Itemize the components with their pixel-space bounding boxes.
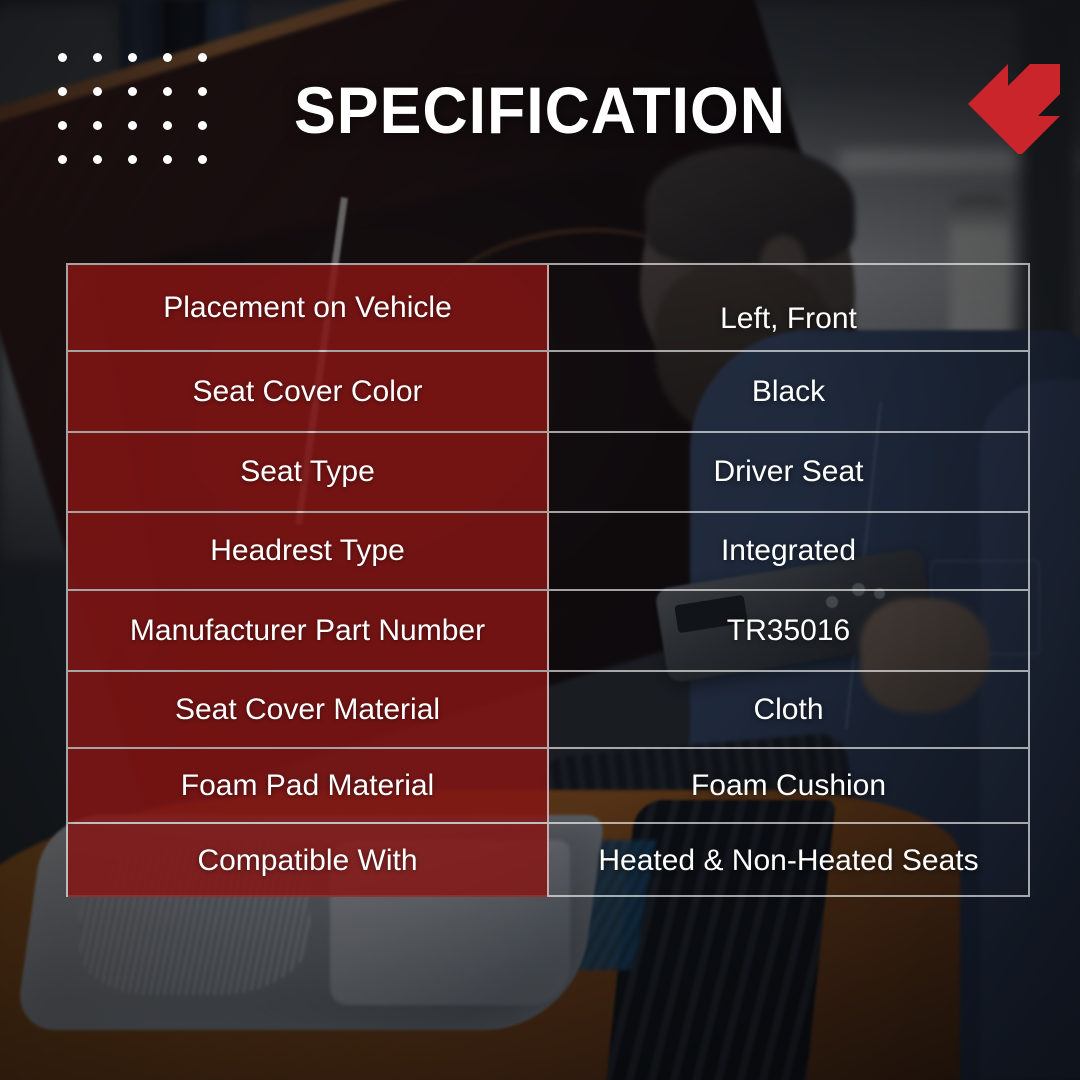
spec-label: Manufacturer Part Number bbox=[68, 591, 549, 670]
table-row: Headrest Type Integrated bbox=[68, 513, 1028, 591]
table-row: Foam Pad Material Foam Cushion bbox=[68, 749, 1028, 824]
spec-value: Driver Seat bbox=[549, 433, 1028, 511]
spec-label: Seat Type bbox=[68, 433, 549, 511]
table-row: Placement on Vehicle Left, Front bbox=[68, 265, 1028, 352]
spec-label: Headrest Type bbox=[68, 513, 549, 589]
table-row: Seat Type Driver Seat bbox=[68, 433, 1028, 513]
spec-value: Integrated bbox=[549, 513, 1028, 589]
table-row: Seat Cover Material Cloth bbox=[68, 672, 1028, 749]
spec-value: TR35016 bbox=[549, 591, 1028, 670]
table-row: Manufacturer Part Number TR35016 bbox=[68, 591, 1028, 672]
table-row: Seat Cover Color Black bbox=[68, 352, 1028, 433]
table-row: Compatible With Heated & Non-Heated Seat… bbox=[68, 824, 1028, 897]
spec-label: Compatible With bbox=[68, 824, 549, 897]
spec-value: Heated & Non-Heated Seats bbox=[549, 824, 1028, 897]
spec-label: Foam Pad Material bbox=[68, 749, 549, 822]
arrow-up-right-icon bbox=[960, 58, 1060, 154]
spec-value: Cloth bbox=[549, 672, 1028, 747]
specification-table: Placement on Vehicle Left, Front Seat Co… bbox=[66, 263, 1030, 897]
spec-value: Black bbox=[549, 352, 1028, 431]
spec-label: Placement on Vehicle bbox=[68, 265, 549, 350]
spec-value: Left, Front bbox=[549, 265, 1028, 350]
spec-label: Seat Cover Color bbox=[68, 352, 549, 431]
page-title: SPECIFICATION bbox=[27, 72, 1053, 148]
spec-label: Seat Cover Material bbox=[68, 672, 549, 747]
spec-value: Foam Cushion bbox=[549, 749, 1028, 822]
